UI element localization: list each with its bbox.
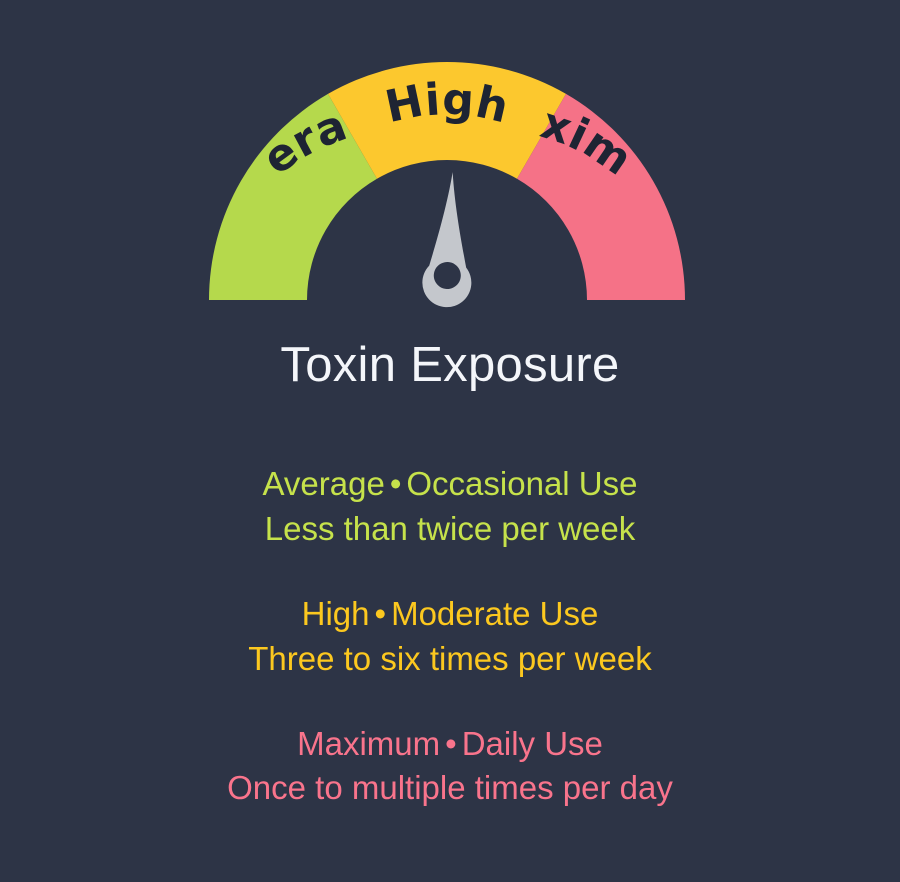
gauge-label-average: Average: [0, 0, 354, 185]
legend-high-separator: •: [370, 595, 392, 632]
legend-item-average: Average•Occasional Use Less than twice p…: [0, 462, 900, 552]
legend-maximum-frequency: Once to multiple times per day: [0, 766, 900, 811]
legend-average-usage: Occasional Use: [406, 465, 637, 502]
legend-average-frequency: Less than twice per week: [0, 507, 900, 552]
needle-body: [421, 171, 477, 309]
legend-high-level: High: [302, 595, 370, 632]
legend-maximum-usage: Daily Use: [462, 725, 603, 762]
page-title: Toxin Exposure: [0, 339, 900, 393]
gauge-chart: Average High Maximum: [0, 0, 900, 320]
gauge-label-high: High: [381, 74, 514, 134]
legend-high-frequency: Three to six times per week: [0, 637, 900, 682]
gauge-needle: [421, 171, 477, 309]
gauge-svg: Average High Maximum: [0, 0, 900, 320]
legend-average-separator: •: [385, 465, 407, 502]
legend-high-usage: Moderate Use: [391, 595, 598, 632]
legend: Average•Occasional Use Less than twice p…: [0, 462, 900, 811]
legend-maximum-headline: Maximum•Daily Use: [0, 722, 900, 767]
legend-average-headline: Average•Occasional Use: [0, 462, 900, 507]
legend-maximum-separator: •: [440, 725, 462, 762]
legend-average-level: Average: [263, 465, 385, 502]
legend-item-high: High•Moderate Use Three to six times per…: [0, 592, 900, 682]
legend-high-headline: High•Moderate Use: [0, 592, 900, 637]
legend-maximum-level: Maximum: [297, 725, 440, 762]
legend-item-maximum: Maximum•Daily Use Once to multiple times…: [0, 722, 900, 812]
toxin-exposure-infographic: Average High Maximum Toxin Exposure Aver…: [0, 0, 900, 882]
